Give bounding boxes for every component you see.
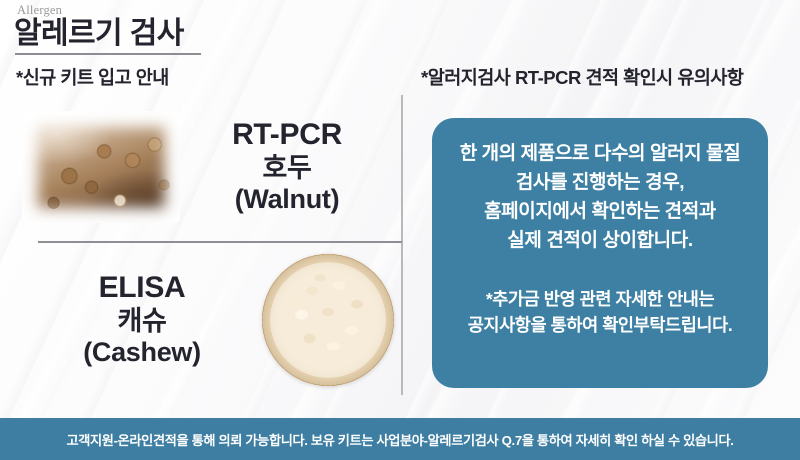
card-elisa-cashew: ELISA 캐슈 (Cashew) [22,252,394,388]
notice-extra-line-2: 공지사항을 통하여 확인부탁드립니다. [468,312,733,339]
subtitle-new-kit-notice: *신규 키트 입고 안내 [16,64,169,90]
card-name-en-cashew: (Cashew) [22,337,262,368]
notice-line-2: 검사를 진행하는 경우, [516,169,684,198]
allergen-kicker-label: Allergen [17,4,201,17]
footer-bar: 고객지원-온라인견적을 통해 의뢰 가능합니다. 보유 키트는 사업분야-알레르… [0,418,800,460]
notice-extra-line-1: *추가금 반영 관련 자세한 안내는 [486,286,714,313]
walnut-photo [22,111,180,223]
card-label-cashew: ELISA 캐슈 (Cashew) [22,271,262,368]
card-rt-pcr-walnut: RT-PCR 호두 (Walnut) [22,108,394,226]
card-method-elisa: ELISA [22,271,262,306]
footer-text: 고객지원-온라인견적을 통해 의뢰 가능합니다. 보유 키트는 사업분야-알레르… [66,430,733,449]
page-header: Allergen 알레르기 검사 [14,4,201,55]
horizontal-divider [38,241,402,243]
notice-line-4: 실제 견적이 상이합니다. [507,227,692,256]
card-method-rt-pcr: RT-PCR [180,118,394,153]
notice-box: 한 개의 제품으로 다수의 알러지 물질 검사를 진행하는 경우, 홈페이지에서… [432,118,768,388]
notice-line-1: 한 개의 제품으로 다수의 알러지 물질 [460,140,741,169]
subtitle-quote-caution: *알러지검사 RT-PCR 견적 확인시 유의사항 [421,64,743,90]
notice-line-3: 홈페이지에서 확인하는 견적과 [484,198,716,227]
vertical-divider [401,95,403,395]
cashew-photo [262,254,394,386]
title-underline [15,53,201,55]
card-name-en-walnut: (Walnut) [180,184,394,215]
card-label-walnut: RT-PCR 호두 (Walnut) [180,118,394,215]
card-name-ko-walnut: 호두 [180,153,394,184]
page-title: 알레르기 검사 [14,18,201,50]
card-name-ko-cashew: 캐슈 [22,306,262,337]
slide-canvas: Allergen 알레르기 검사 *신규 키트 입고 안내 *알러지검사 RT-… [0,0,800,460]
